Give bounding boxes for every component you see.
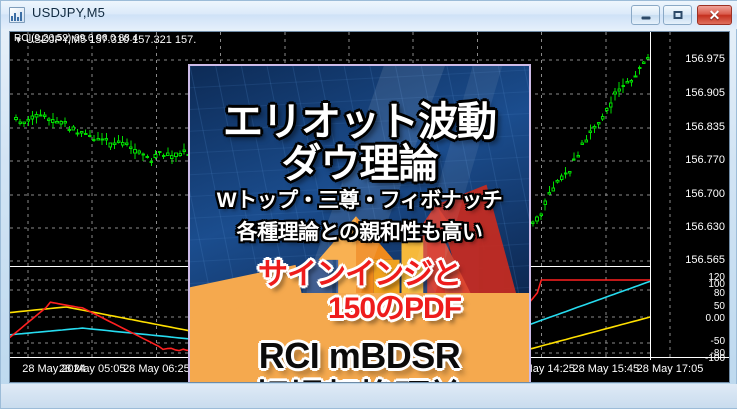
promo-subtitle-1: Wトップ・三尊・フィボナッチ <box>190 190 529 211</box>
indicator-label-strip: RCI(9,26,52) 69.6 96.0 88.4 <box>14 33 138 44</box>
indicator-scale-label: -50 <box>711 336 725 347</box>
indicator-scale-label: 0.00 <box>706 313 725 324</box>
promo-red-text-2: 150のPDF <box>190 294 529 324</box>
close-button[interactable]: ✕ <box>697 5 732 25</box>
promo-red-text-1: サインインジと <box>190 260 529 290</box>
price-scale-label: 156.835 <box>685 121 725 133</box>
restore-button[interactable] <box>663 5 692 25</box>
time-axis-label: 28 May 17:05 <box>637 363 704 375</box>
window-title: USDJPY,M5 <box>32 5 105 20</box>
mt4-chart-window: USDJPY,M5 ✕ ▼USDJPY,M5 157.310 157.321 1… <box>0 0 737 409</box>
window-titlebar[interactable]: USDJPY,M5 ✕ <box>1 1 737 29</box>
promo-subtitle-2: 各種理論との親和性も高い <box>190 222 529 243</box>
close-icon: ✕ <box>709 8 721 22</box>
indicator-scale-label: 50 <box>714 301 725 312</box>
promo-black-text-1: RCI mBDSR <box>190 338 529 374</box>
promo-banner-overlay: エリオット波動 ダウ理論 Wトップ・三尊・フィボナッチ 各種理論との親和性も高い… <box>188 64 531 382</box>
promo-headline-1: エリオット波動 <box>190 102 529 142</box>
time-axis-label: 28 May 06:25 <box>123 363 190 375</box>
minimize-button[interactable] <box>631 5 660 25</box>
price-scale-separator <box>650 32 651 360</box>
price-scale-label: 156.905 <box>685 87 725 99</box>
price-scale-label: 156.975 <box>685 53 725 65</box>
indicator-scale-label: 80 <box>714 288 725 299</box>
chart-window-icon <box>9 7 25 23</box>
promo-black-text-2: 相場転換理論 <box>190 380 529 382</box>
chart-client-area[interactable]: ▼USDJPY,M5 157.310 157.321 157. RCI(9,26… <box>9 31 730 383</box>
price-scale-label: 156.630 <box>685 221 725 233</box>
price-scale-label: 156.700 <box>685 188 725 200</box>
window-statusbar <box>1 384 737 408</box>
time-axis-label: 28 May 05:05 <box>59 363 126 375</box>
price-scale-label: 156.770 <box>685 154 725 166</box>
price-scale-label: 156.565 <box>685 254 725 266</box>
time-axis-label: 28 May 15:45 <box>572 363 639 375</box>
chart-surface[interactable]: ▼USDJPY,M5 157.310 157.321 157. RCI(9,26… <box>10 32 729 382</box>
promo-headline-2: ダウ理論 <box>190 144 529 184</box>
